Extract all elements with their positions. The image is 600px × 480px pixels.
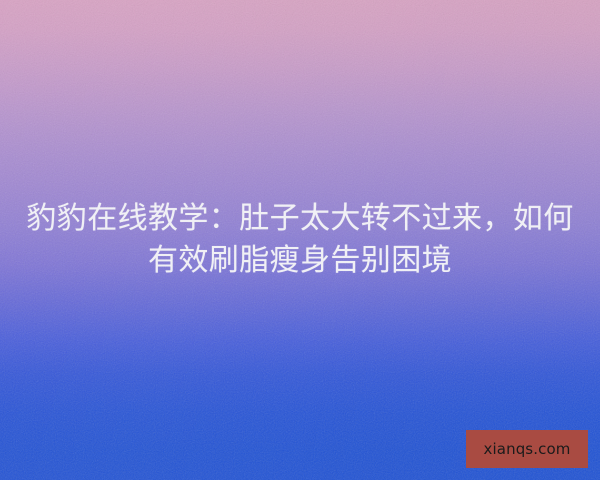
- image-canvas: 豹豹在线教学：肚子太大转不过来，如何 有效刷脂瘦身告别困境 xianqs.com: [0, 0, 600, 480]
- title-line-2: 有效刷脂瘦身告别困境: [24, 240, 576, 282]
- title-block: 豹豹在线教学：肚子太大转不过来，如何 有效刷脂瘦身告别困境: [0, 198, 600, 282]
- watermark-badge: xianqs.com: [466, 430, 588, 468]
- title-line-1: 豹豹在线教学：肚子太大转不过来，如何: [24, 198, 576, 240]
- watermark-label: xianqs.com: [484, 442, 571, 457]
